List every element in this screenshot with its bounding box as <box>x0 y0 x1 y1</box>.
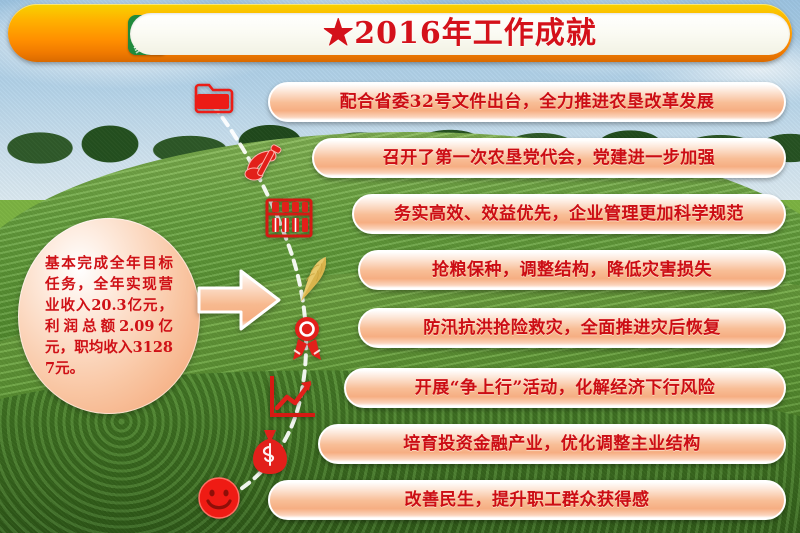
party-emblem-icon <box>238 140 286 190</box>
achievement-text-8: 改善民生，提升职工群众获得感 <box>405 492 650 509</box>
slide-canvas: ★2016年工作成就 基本完成全年目标任务，全年实现营业收入20.3亿元，利润总… <box>0 0 800 533</box>
summary-text: 基本完成全年目标任务，全年实现营业收入20.3亿元，利润总额2.09亿元，职均收… <box>45 253 173 379</box>
summary-oval: 基本完成全年目标任务，全年实现营业收入20.3亿元，利润总额2.09亿元，职均收… <box>18 218 200 414</box>
title-plate: ★2016年工作成就 <box>130 13 790 55</box>
title-bar: ★2016年工作成就 <box>8 4 792 62</box>
achievement-pill-7[interactable]: 培育投资金融产业，优化调整主业结构 <box>318 424 786 464</box>
achievement-pill-5[interactable]: 防汛抗洪抢险救灾，全面推进灾后恢复 <box>358 308 786 348</box>
money-bag-icon <box>250 428 290 480</box>
smiley-face-icon <box>196 475 242 525</box>
achievement-pill-1[interactable]: 配合省委32号文件出台，全力推进农垦改革发展 <box>268 82 786 122</box>
wheat-icon <box>288 250 340 312</box>
achievement-text-3: 务实高效、效益优先，企业管理更加科学规范 <box>394 206 744 223</box>
achievement-pill-4[interactable]: 抢粮保种，调整结构，降低灾害损失 <box>358 250 786 290</box>
chart-up-icon <box>268 375 316 423</box>
achievement-pill-2[interactable]: 召开了第一次农垦党代会，党建进一步加强 <box>312 138 786 178</box>
achievement-text-4: 抢粮保种，调整结构，降低灾害损失 <box>432 262 712 279</box>
achievement-pill-8[interactable]: 改善民生，提升职工群众获得感 <box>268 480 786 520</box>
achievement-text-2: 召开了第一次农垦党代会，党建进一步加强 <box>383 150 716 167</box>
abacus-icon <box>265 198 313 242</box>
achievement-text-5: 防汛抗洪抢险救灾，全面推进灾后恢复 <box>423 320 721 337</box>
achievement-text-1: 配合省委32号文件出台，全力推进农垦改革发展 <box>340 94 715 111</box>
achievement-pill-6[interactable]: 开展“争上行”活动，化解经济下行风险 <box>344 368 786 408</box>
page-title: ★2016年工作成就 <box>323 19 597 49</box>
achievement-pill-3[interactable]: 务实高效、效益优先，企业管理更加科学规范 <box>352 194 786 234</box>
folder-icon <box>194 82 234 118</box>
medal-ribbon-icon <box>286 314 328 366</box>
right-arrow-icon <box>196 266 282 334</box>
achievement-text-7: 培育投资金融产业，优化调整主业结构 <box>403 436 701 453</box>
achievement-text-6: 开展“争上行”活动，化解经济下行风险 <box>415 380 716 397</box>
